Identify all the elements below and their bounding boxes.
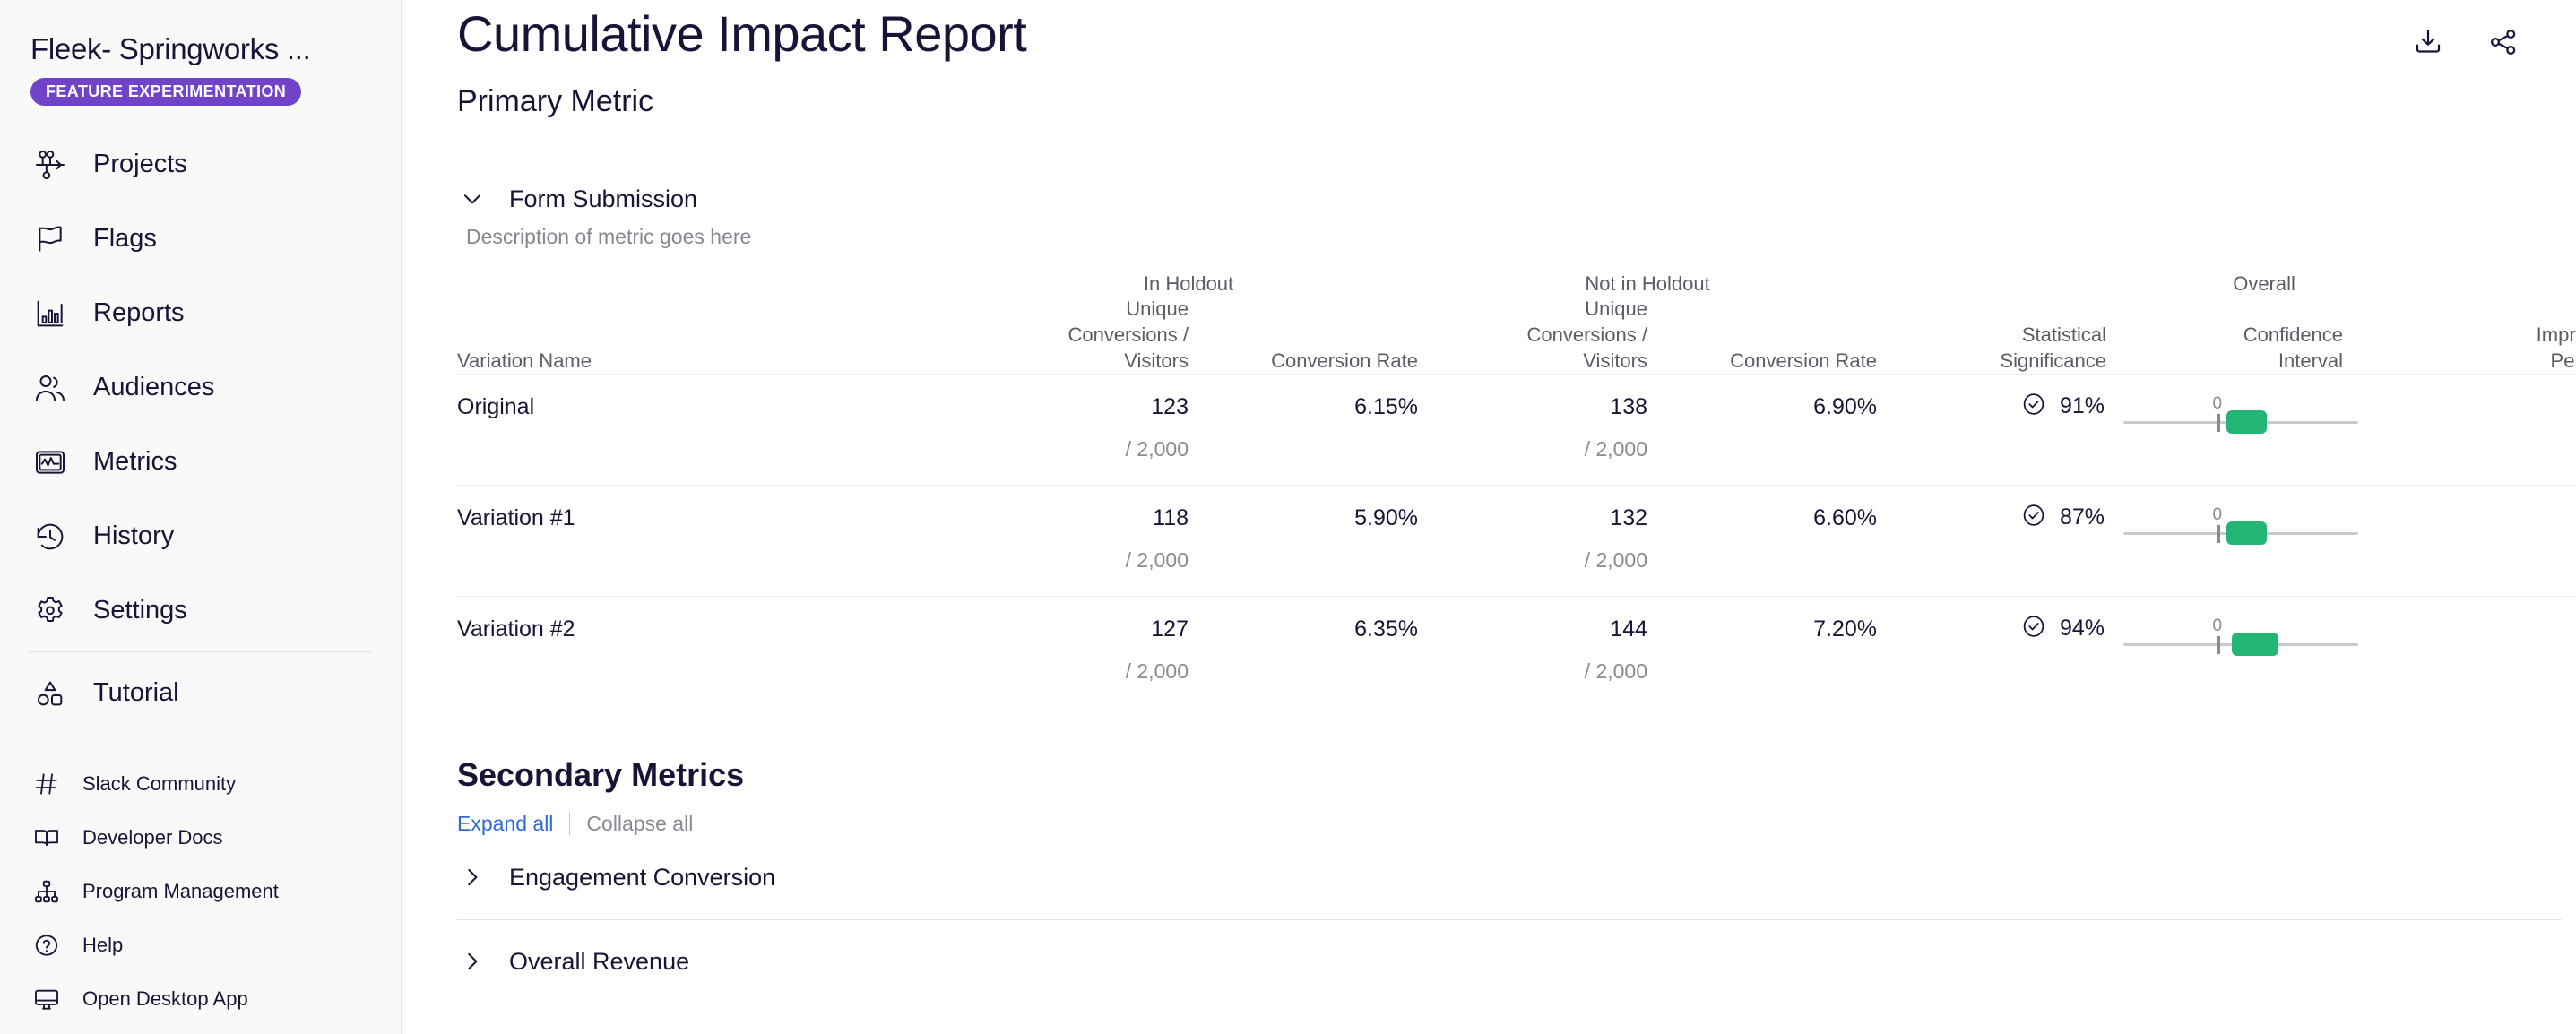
reports-bar-chart-icon xyxy=(30,294,70,333)
check-circle-icon xyxy=(2020,613,2047,644)
table-group-header-row: In Holdout Not in Holdout Overall xyxy=(457,272,2576,296)
secondary-metric-overall-revenue[interactable]: Overall Revenue xyxy=(457,920,2562,1004)
primary-metric-table: In Holdout Not in Holdout Overall Variat… xyxy=(457,272,2576,708)
metric-description: Description of metric goes here xyxy=(466,225,2519,249)
col-statistical-significance: StatisticalSignificance xyxy=(1877,296,2106,375)
sidebar-item-label: Settings xyxy=(93,596,187,625)
cell-holdout-conversions: 127 / 2,000 xyxy=(959,597,1189,708)
sitemap-icon xyxy=(30,875,63,908)
sidebar-item-label: Slack Community xyxy=(82,772,236,796)
col-improvement-percentage: ImprovementPercentage xyxy=(2375,296,2576,375)
table-row: Variation #1 118 / 2,000 5.90% 132 / 2,0… xyxy=(457,486,2576,597)
secondary-metric-engagement-conversion[interactable]: Engagement Conversion xyxy=(457,836,2562,920)
cell-variation-name: Variation #1 xyxy=(457,486,959,597)
ci-interval-bar xyxy=(2232,633,2278,656)
sidebar-item-label: Projects xyxy=(93,150,187,179)
ci-interval-bar xyxy=(2226,521,2267,545)
secondary-metrics-heading: Secondary Metrics xyxy=(457,756,2519,794)
col-label: Conversion Rate xyxy=(1271,349,1418,372)
table-column-header-row: Variation Name UniqueConversions /Visito… xyxy=(457,296,2576,375)
sidebar-item-label: Help xyxy=(82,934,123,957)
badge-container: FEATURE EXPERIMENTATION xyxy=(0,66,401,106)
gear-icon xyxy=(30,591,70,631)
sidebar-nav-secondary: Slack Community Developer Docs xyxy=(0,757,401,1026)
group-header-in-holdout: In Holdout xyxy=(959,272,1418,296)
visitors: / 2,000 xyxy=(1418,437,1647,461)
confidence-interval-chart: 0 xyxy=(2123,616,2358,667)
cell-statistical-significance: 91% xyxy=(1877,375,2106,486)
flag-icon xyxy=(30,220,70,259)
secondary-metric-label: Overall Revenue xyxy=(509,948,689,976)
sidebar-item-label: Reports xyxy=(93,298,185,328)
collapse-all-link[interactable]: Collapse all xyxy=(586,812,693,836)
group-header-not-in-holdout: Not in Holdout xyxy=(1418,272,1877,296)
sidebar-item-label: Flags xyxy=(93,224,157,254)
value: 132 xyxy=(1418,505,1647,531)
visitors: / 2,000 xyxy=(959,437,1189,461)
table-body: Original 123 / 2,000 6.15% 138 / 2,000 6… xyxy=(457,375,2576,708)
cell-not-holdout-conversions: 144 / 2,000 xyxy=(1418,597,1647,708)
ci-zero-tick xyxy=(2217,636,2220,654)
sidebar-item-label: Tutorial xyxy=(93,678,179,708)
cell-not-holdout-rate: 6.60% xyxy=(1647,486,1877,597)
cell-statistical-significance: 87% xyxy=(1877,486,2106,597)
cell-improvement-percentage: 12.20% xyxy=(2375,375,2576,486)
hash-icon xyxy=(30,768,63,800)
divider xyxy=(569,812,570,835)
sidebar-item-label: Program Management xyxy=(82,880,279,903)
sidebar-item-open-desktop-app[interactable]: Open Desktop App xyxy=(0,972,401,1026)
ci-zero-tick xyxy=(2217,414,2220,432)
toolbar xyxy=(2411,25,2520,59)
tutorial-shapes-icon xyxy=(30,674,70,713)
sidebar-item-reports[interactable]: Reports xyxy=(0,276,401,350)
sidebar-item-slack-community[interactable]: Slack Community xyxy=(0,757,401,811)
value: 144 xyxy=(1418,616,1647,642)
visitors: / 2,000 xyxy=(959,659,1189,684)
significance-value: 94% xyxy=(2060,616,2105,642)
visitors: / 2,000 xyxy=(959,548,1189,573)
report-body: Cumulative Impact Report Primary Metric … xyxy=(402,5,2519,1004)
chevron-down-icon xyxy=(457,184,488,214)
col-confidence-interval: ConfidenceInterval xyxy=(2106,296,2375,375)
col-label: Variation Name xyxy=(457,349,592,372)
download-icon[interactable] xyxy=(2411,25,2445,59)
metrics-monitor-icon xyxy=(30,443,70,482)
cell-not-holdout-rate: 6.90% xyxy=(1647,375,1877,486)
col-not-holdout-conversion-rate: Conversion Rate xyxy=(1647,296,1877,375)
sidebar-nav-main: Projects Flags xyxy=(0,127,401,648)
sidebar-item-label: Audiences xyxy=(93,373,214,402)
cell-variation-name: Original xyxy=(457,375,959,486)
col-holdout-unique-conversions-visitors: UniqueConversions /Visitors xyxy=(959,296,1189,375)
primary-metric-heading: Primary Metric xyxy=(457,84,2519,119)
desktop-monitor-icon xyxy=(30,983,63,1015)
table-head: In Holdout Not in Holdout Overall Variat… xyxy=(457,272,2576,375)
chevron-right-icon xyxy=(457,862,488,892)
sidebar-item-help[interactable]: Help xyxy=(0,918,401,972)
significance-value: 87% xyxy=(2060,504,2105,530)
sidebar-divider xyxy=(30,651,370,652)
ci-interval-bar xyxy=(2226,410,2267,434)
value: 118 xyxy=(959,505,1189,531)
sidebar-item-projects[interactable]: Projects xyxy=(0,127,401,202)
sidebar-item-developer-docs[interactable]: Developer Docs xyxy=(0,811,401,865)
page-title: Cumulative Impact Report xyxy=(457,5,2519,63)
org-title: Fleek- Springworks ... xyxy=(0,32,401,66)
col-variation-name: Variation Name xyxy=(457,296,959,375)
value: 127 xyxy=(959,616,1189,642)
cell-not-holdout-conversions: 132 / 2,000 xyxy=(1418,486,1647,597)
ci-zero-label: 0 xyxy=(2213,616,2223,636)
sidebar-item-label: Metrics xyxy=(93,447,177,477)
significance-value: 91% xyxy=(2060,393,2105,419)
cell-variation-name: Variation #2 xyxy=(457,597,959,708)
sidebar-item-label: History xyxy=(93,521,174,551)
cell-confidence-interval: 0 xyxy=(2106,375,2375,486)
chevron-right-icon xyxy=(457,946,488,977)
value: 123 xyxy=(959,394,1189,420)
check-circle-icon xyxy=(2020,391,2047,422)
sidebar-item-metrics[interactable]: Metrics xyxy=(0,425,401,499)
group-spacer xyxy=(457,272,959,296)
sidebar-item-program-management[interactable]: Program Management xyxy=(0,865,401,918)
cell-not-holdout-rate: 7.20% xyxy=(1647,597,1877,708)
sidebar-item-audiences[interactable]: Audiences xyxy=(0,350,401,425)
main-content: Cumulative Impact Report Primary Metric … xyxy=(402,0,2576,1034)
cell-improvement-percentage: 10.80% xyxy=(2375,486,2576,597)
table-row: Variation #2 127 / 2,000 6.35% 144 / 2,0… xyxy=(457,597,2576,708)
sidebar: Fleek- Springworks ... FEATURE EXPERIMEN… xyxy=(0,0,402,1034)
history-clock-icon xyxy=(30,517,70,556)
cell-holdout-rate: 5.90% xyxy=(1189,486,1418,597)
app-root: Fleek- Springworks ... FEATURE EXPERIMEN… xyxy=(0,0,2576,1034)
col-holdout-conversion-rate: Conversion Rate xyxy=(1189,296,1418,375)
cell-statistical-significance: 94% xyxy=(1877,597,2106,708)
value: 138 xyxy=(1418,394,1647,420)
cell-holdout-conversions: 123 / 2,000 xyxy=(959,375,1189,486)
sidebar-item-label: Open Desktop App xyxy=(82,987,248,1011)
book-icon xyxy=(30,822,63,854)
cell-holdout-rate: 6.15% xyxy=(1189,375,1418,486)
col-not-holdout-unique-conversions-visitors: UniqueConversions /Visitors xyxy=(1418,296,1647,375)
feature-experimentation-badge: FEATURE EXPERIMENTATION xyxy=(30,78,301,106)
group-header-overall: Overall xyxy=(1877,272,2576,296)
question-circle-icon xyxy=(30,929,63,961)
confidence-interval-chart: 0 xyxy=(2123,394,2358,444)
sidebar-item-tutorial[interactable]: Tutorial xyxy=(0,656,401,730)
sidebar-item-flags[interactable]: Flags xyxy=(0,202,401,276)
sidebar-item-history[interactable]: History xyxy=(0,499,401,573)
projects-icon xyxy=(30,145,70,185)
check-circle-icon xyxy=(2020,502,2047,533)
ci-zero-label: 0 xyxy=(2213,505,2223,525)
confidence-interval-chart: 0 xyxy=(2123,505,2358,556)
cell-confidence-interval: 0 xyxy=(2106,486,2375,597)
sidebar-item-label: Developer Docs xyxy=(82,826,223,849)
secondary-metric-label: Engagement Conversion xyxy=(509,864,775,892)
audiences-people-icon xyxy=(30,368,70,408)
table-row: Original 123 / 2,000 6.15% 138 / 2,000 6… xyxy=(457,375,2576,486)
expand-collapse-controls: Expand all Collapse all xyxy=(457,812,2519,836)
ci-zero-label: 0 xyxy=(2213,394,2223,414)
visitors: / 2,000 xyxy=(1418,659,1647,684)
col-label: Conversion Rate xyxy=(1730,349,1877,372)
metric-title: Form Submission xyxy=(509,185,697,213)
ci-zero-tick xyxy=(2217,525,2220,543)
cell-not-holdout-conversions: 138 / 2,000 xyxy=(1418,375,1647,486)
metric-accordion-form-submission[interactable]: Form Submission xyxy=(457,184,2519,214)
visitors: / 2,000 xyxy=(1418,548,1647,573)
cell-confidence-interval: 0 xyxy=(2106,597,2375,708)
cell-holdout-rate: 6.35% xyxy=(1189,597,1418,708)
sidebar-item-settings[interactable]: Settings xyxy=(0,573,401,648)
cell-holdout-conversions: 118 / 2,000 xyxy=(959,486,1189,597)
expand-all-link[interactable]: Expand all xyxy=(457,812,553,836)
share-icon[interactable] xyxy=(2486,25,2520,59)
cell-improvement-percentage: 13.80% xyxy=(2375,597,2576,708)
